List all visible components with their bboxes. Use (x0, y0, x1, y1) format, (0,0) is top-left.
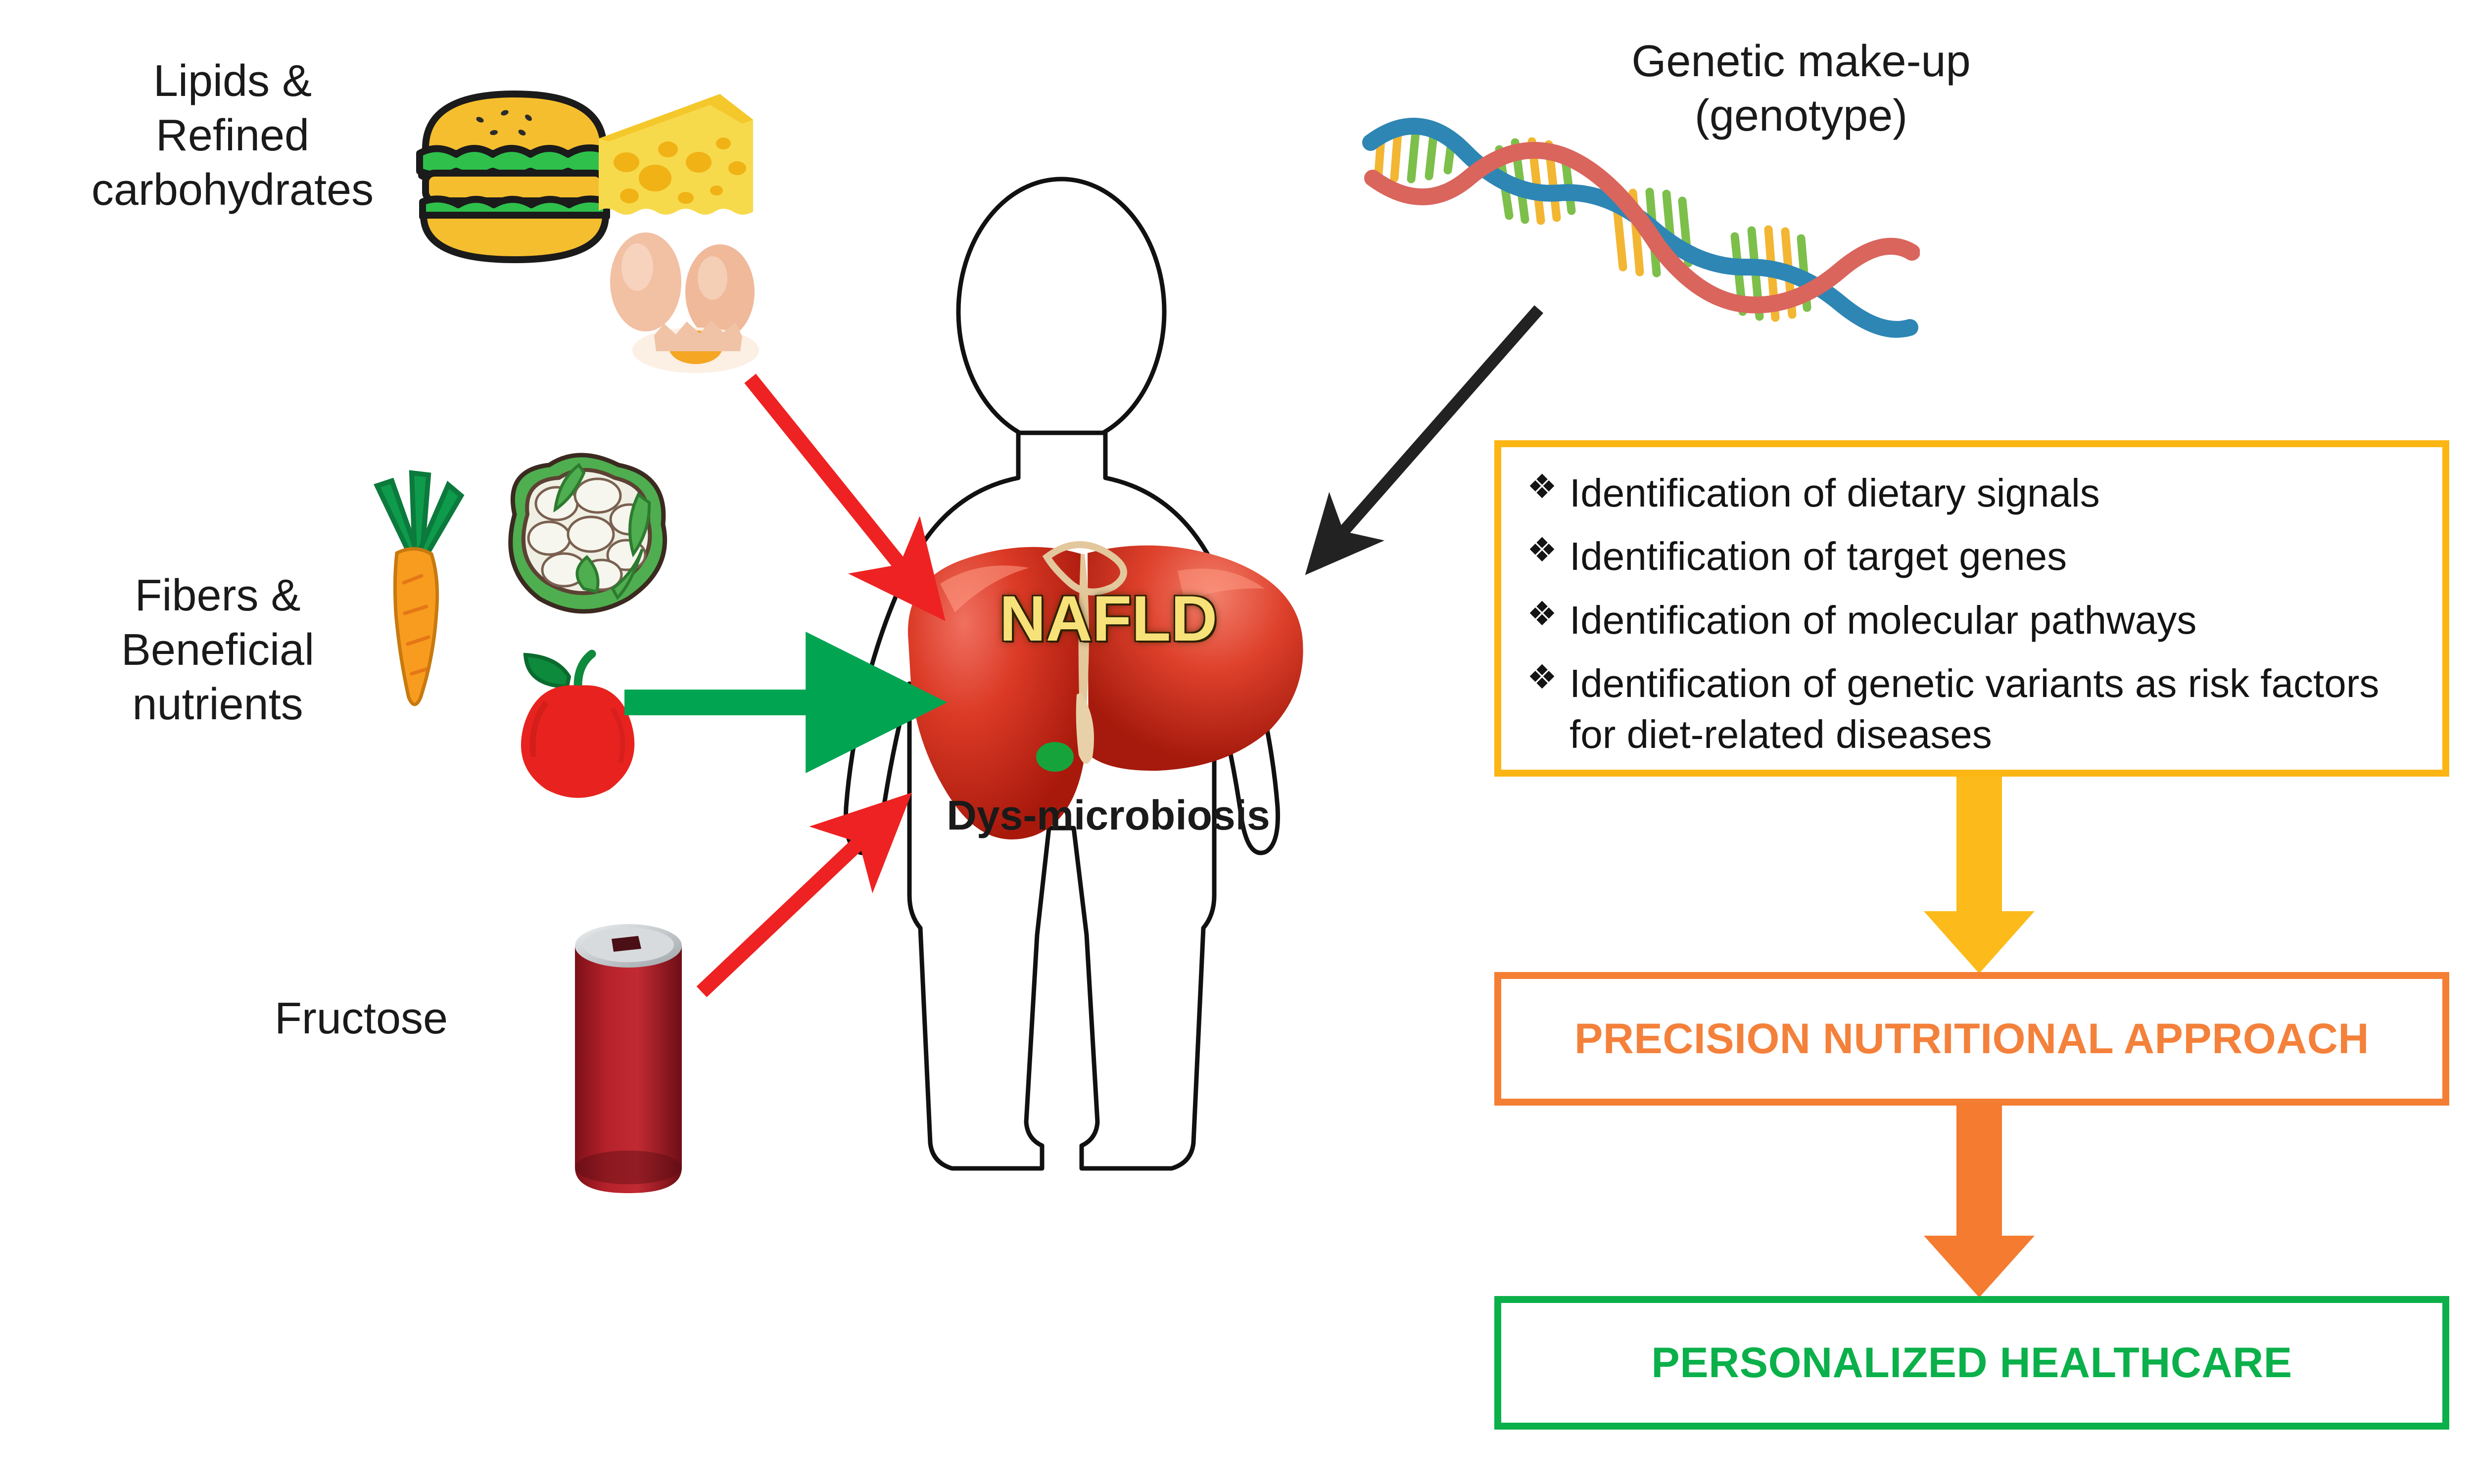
list-item-label: Identification of genetic variants as ri… (1570, 658, 2423, 760)
list-item-label: Identification of dietary signals (1570, 468, 2423, 518)
yellow-down-arrow (1905, 777, 2053, 974)
list-item-label: Identification of molecular pathways (1570, 595, 2423, 646)
diagram-canvas: Lipids & Refined carbohydrates Fibers & … (0, 0, 2474, 1484)
identification-list-box: ❖ Identification of dietary signals ❖ Id… (1494, 440, 2449, 777)
personalized-healthcare-box: PERSONALIZED HEALTHCARE (1494, 1296, 2449, 1430)
precision-nutritional-approach-box: PRECISION NUTRITIONAL APPROACH (1494, 972, 2449, 1106)
diamond-bullet-icon: ❖ (1527, 468, 1570, 506)
identification-bullet-list: ❖ Identification of dietary signals ❖ Id… (1501, 447, 2442, 760)
personalized-healthcare-label: PERSONALIZED HEALTHCARE (1651, 1339, 2292, 1388)
arrow-fructose-to-liver (702, 821, 882, 992)
orange-down-arrow (1905, 1103, 2053, 1298)
list-item: ❖ Identification of genetic variants as … (1527, 658, 2423, 760)
list-item: ❖ Identification of target genes (1527, 531, 2423, 582)
diamond-bullet-icon: ❖ (1527, 595, 1570, 633)
diamond-bullet-icon: ❖ (1527, 531, 1570, 569)
list-item-label: Identification of target genes (1570, 531, 2423, 582)
diamond-bullet-icon: ❖ (1527, 658, 1570, 696)
precision-nutritional-approach-label: PRECISION NUTRITIONAL APPROACH (1574, 1015, 2369, 1064)
arrow-lipids-to-liver (750, 378, 919, 589)
list-item: ❖ Identification of molecular pathways (1527, 595, 2423, 646)
list-item: ❖ Identification of dietary signals (1527, 468, 2423, 518)
